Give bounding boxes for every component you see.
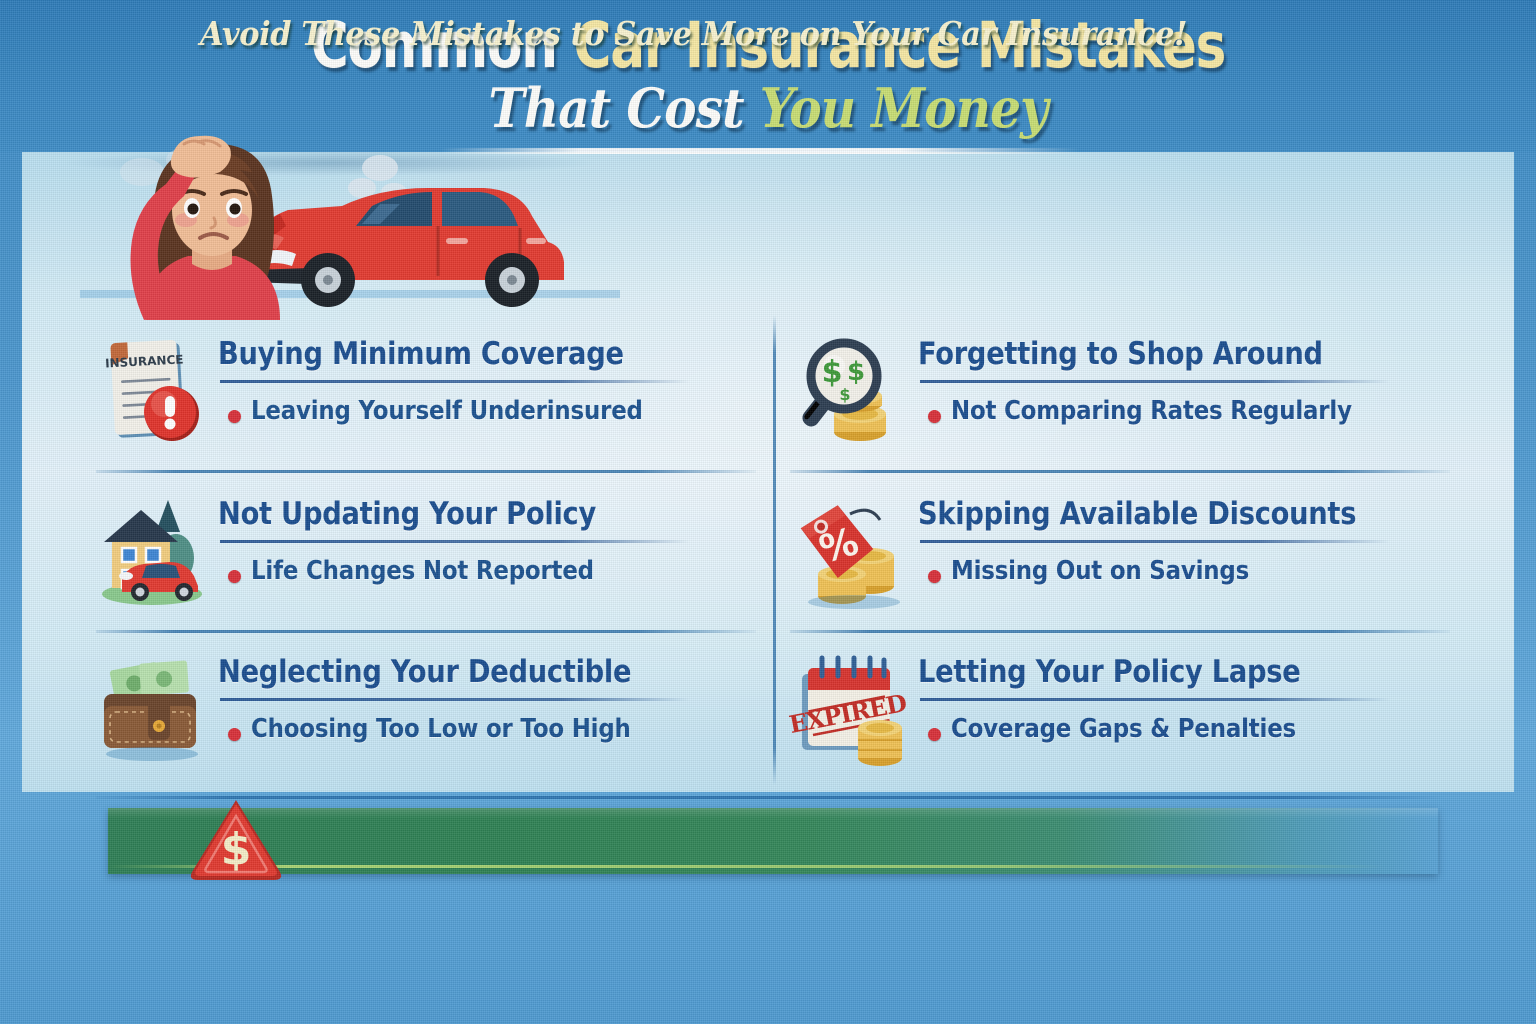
- item-title: Forgetting to Shop Around: [918, 336, 1323, 372]
- item-title-rule: [920, 380, 1390, 383]
- item-title: Skipping Available Discounts: [918, 496, 1356, 532]
- mistake-item-neglecting-your-deductible[interactable]: Neglecting Your Deductible Choosing Too …: [96, 648, 736, 788]
- item-title: Not Updating Your Policy: [218, 496, 596, 532]
- item-subtitle: Not Comparing Rates Regularly: [951, 396, 1352, 426]
- title-underline: [440, 148, 1080, 154]
- bullet-dot: [928, 728, 941, 741]
- item-title: Buying Minimum Coverage: [218, 336, 624, 372]
- bullet-dot: [228, 570, 241, 583]
- bullet-dot: [928, 570, 941, 583]
- left-divider-2: [96, 630, 756, 633]
- item-subtitle: Life Changes Not Reported: [251, 556, 594, 586]
- dollar-symbol: $: [221, 824, 252, 875]
- dollar-symbol-large-2: $: [847, 357, 865, 387]
- item-title-rule: [220, 380, 690, 383]
- mistake-item-buying-minimum-coverage[interactable]: INSURANCE Buying Minimum Coverage: [96, 330, 736, 470]
- bullet-dot: [228, 728, 241, 741]
- mistake-item-forgetting-to-shop-around[interactable]: $ $ $ Forgetting to Shop Around Not Comp…: [796, 330, 1436, 470]
- bullet-dot: [228, 410, 241, 423]
- item-subtitle: Missing Out on Savings: [951, 556, 1249, 586]
- right-divider-2: [790, 630, 1450, 633]
- mistake-item-letting-your-policy-lapse[interactable]: EXPIRED Letting Your Policy La: [796, 648, 1436, 788]
- item-subtitle: Leaving Yourself Underinsured: [251, 396, 643, 426]
- item-title: Letting Your Policy Lapse: [918, 654, 1300, 690]
- hero-illustration: [80, 130, 620, 320]
- discount-price-tag-coins-icon: %: [796, 496, 914, 614]
- mistake-item-not-updating-your-policy[interactable]: Not Updating Your Policy Life Changes No…: [96, 490, 736, 630]
- banner-sheen: [108, 865, 1385, 868]
- damaged-red-car-icon: [248, 188, 564, 307]
- magnifying-glass-dollars-coins-icon: $ $ $: [796, 336, 914, 454]
- warning-triangle-dollar-icon: $: [188, 796, 284, 882]
- infographic-poster: Common Car Insurance Mistakes That Cost …: [0, 0, 1536, 1024]
- banner-top-glow: [108, 808, 1438, 818]
- item-title-rule: [220, 698, 690, 701]
- item-title-rule: [920, 698, 1390, 701]
- footer-message: Avoid These Mistakes to Save More on You…: [200, 14, 1187, 53]
- mistake-item-skipping-available-discounts[interactable]: % Skipping Available Discounts Missing O…: [796, 490, 1436, 630]
- column-divider: [773, 315, 776, 785]
- item-title: Neglecting Your Deductible: [218, 654, 631, 690]
- item-subtitle: Coverage Gaps & Penalties: [951, 714, 1296, 744]
- wallet-with-cash-icon: [96, 654, 214, 772]
- bullet-dot: [928, 410, 941, 423]
- right-divider-1: [790, 470, 1450, 473]
- item-title-rule: [220, 540, 690, 543]
- insurance-document-alert-icon: INSURANCE: [96, 336, 214, 454]
- item-subtitle: Choosing Too Low or Too High: [251, 714, 631, 744]
- footer-top-hairline: [96, 796, 1446, 799]
- expired-calendar-coins-icon: EXPIRED: [796, 654, 914, 772]
- item-title-rule: [920, 540, 1390, 543]
- left-divider-1: [96, 470, 756, 473]
- dollar-symbol-small: $: [839, 385, 850, 404]
- house-and-car-icon: [96, 496, 214, 614]
- footer-banner: [108, 808, 1438, 874]
- coin-stack-icon: [858, 720, 902, 766]
